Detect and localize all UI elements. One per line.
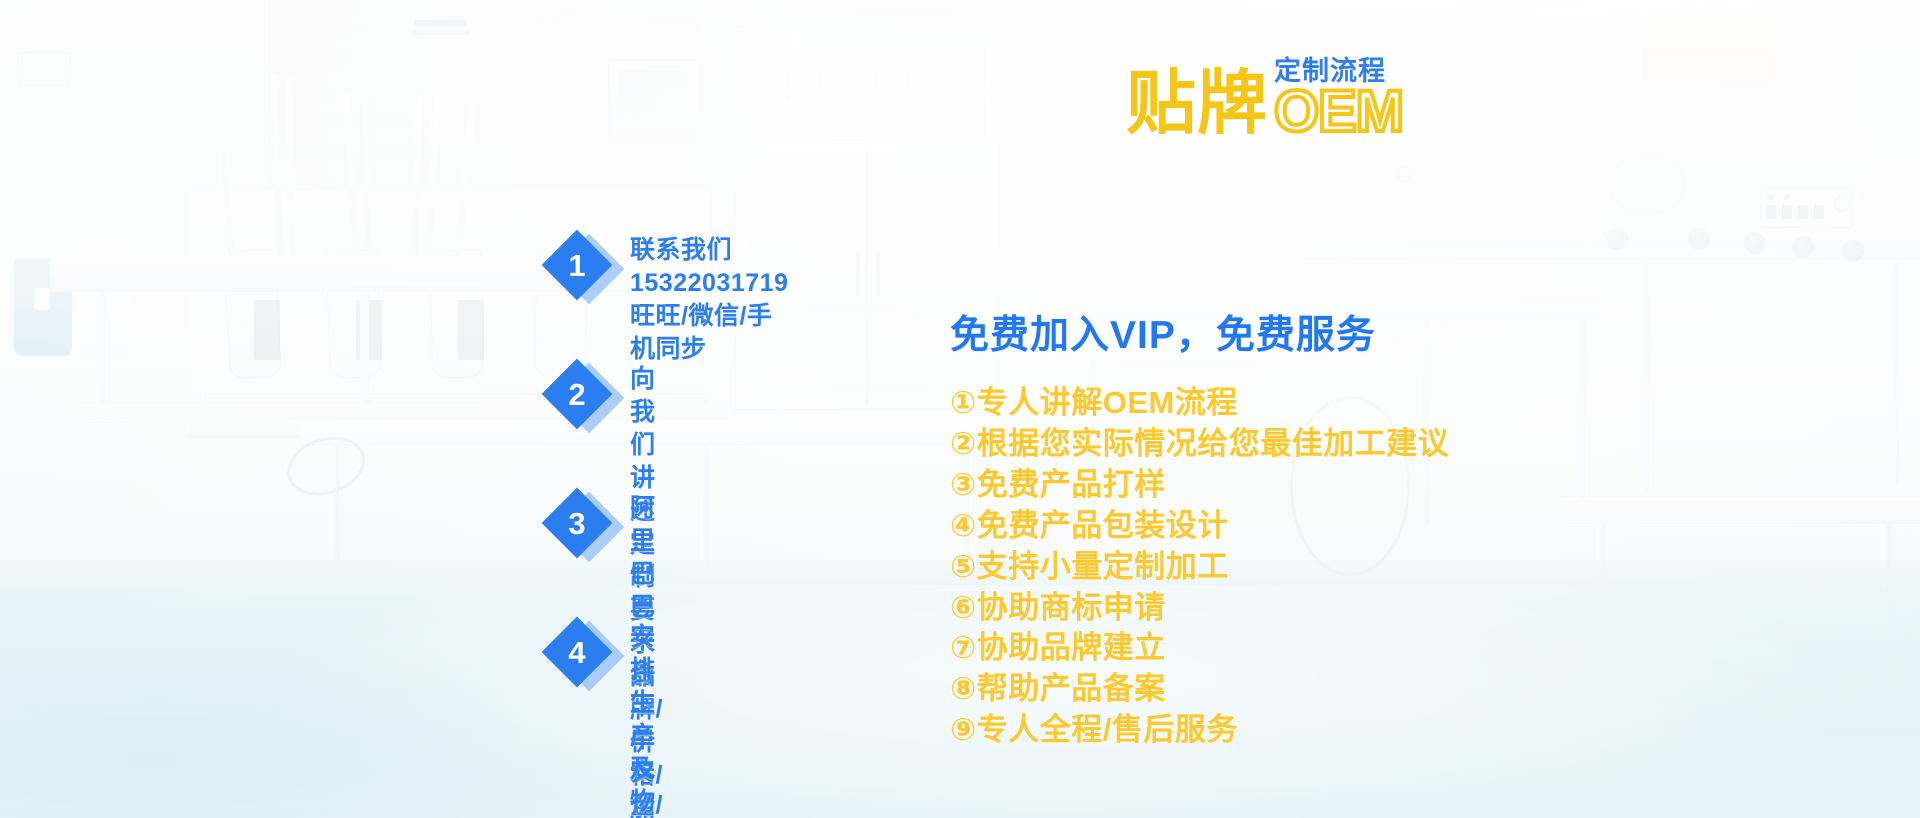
step-badge-3: 3 bbox=[548, 494, 616, 560]
vip-benefit-item: ⑤支持小量定制加工 bbox=[950, 547, 1449, 588]
vip-benefit-item: ⑥协助商标申请 bbox=[950, 588, 1449, 629]
step-number: 2 bbox=[552, 369, 602, 419]
step-text-1: 联系我们15322031719 旺旺/微信/手机同步 bbox=[630, 234, 788, 366]
vip-section: 免费加入VIP，免费服务 ①专人讲解OEM流程 ②根据您实际情况给您最佳加工建议… bbox=[950, 316, 1449, 751]
step-number: 1 bbox=[552, 240, 602, 290]
step-line-2: 旺旺/微信/手机同步 bbox=[630, 300, 788, 366]
banner-content: 贴牌 定制流程 OEM 1 联系我们15322031719 旺旺/微信/手机同步 bbox=[0, 0, 1920, 818]
vip-benefit-item: ⑨专人全程/售后服务 bbox=[950, 710, 1449, 751]
title-main-cn: 贴牌 bbox=[1126, 70, 1268, 137]
vip-benefit-item: ⑧帮助产品备案 bbox=[950, 669, 1449, 710]
vip-heading: 免费加入VIP，免费服务 bbox=[950, 316, 1449, 355]
oem-process-banner: 贴牌 定制流程 OEM 1 联系我们15322031719 旺旺/微信/手机同步 bbox=[0, 0, 1920, 818]
vip-benefit-item: ②根据您实际情况给您最佳加工建议 bbox=[950, 424, 1449, 465]
step-badge-4: 4 bbox=[548, 623, 616, 689]
vip-benefits-list: ①专人讲解OEM流程 ②根据您实际情况给您最佳加工建议 ③免费产品打样 ④免费产… bbox=[950, 383, 1449, 751]
step-line-1: 安排生产及物流出货 bbox=[630, 621, 663, 818]
step-badge-2: 2 bbox=[548, 365, 616, 431]
vip-benefit-item: ①专人讲解OEM流程 bbox=[950, 383, 1449, 424]
step-badge-1: 1 bbox=[548, 236, 616, 302]
vip-benefit-item: ④免费产品包装设计 bbox=[950, 506, 1449, 547]
vip-benefit-item: ③免费产品打样 bbox=[950, 465, 1449, 506]
step-text-4: 安排生产及物流出货 品质/微检/放心使用 bbox=[630, 621, 663, 818]
step-number: 3 bbox=[552, 498, 602, 548]
title-oem-outline: OEM bbox=[1274, 87, 1403, 136]
banner-title: 贴牌 定制流程 OEM bbox=[1126, 58, 1403, 136]
step-line-1: 联系我们15322031719 bbox=[630, 234, 788, 300]
step-number: 4 bbox=[552, 627, 602, 677]
vip-benefit-item: ⑦协助品牌建立 bbox=[950, 628, 1449, 669]
